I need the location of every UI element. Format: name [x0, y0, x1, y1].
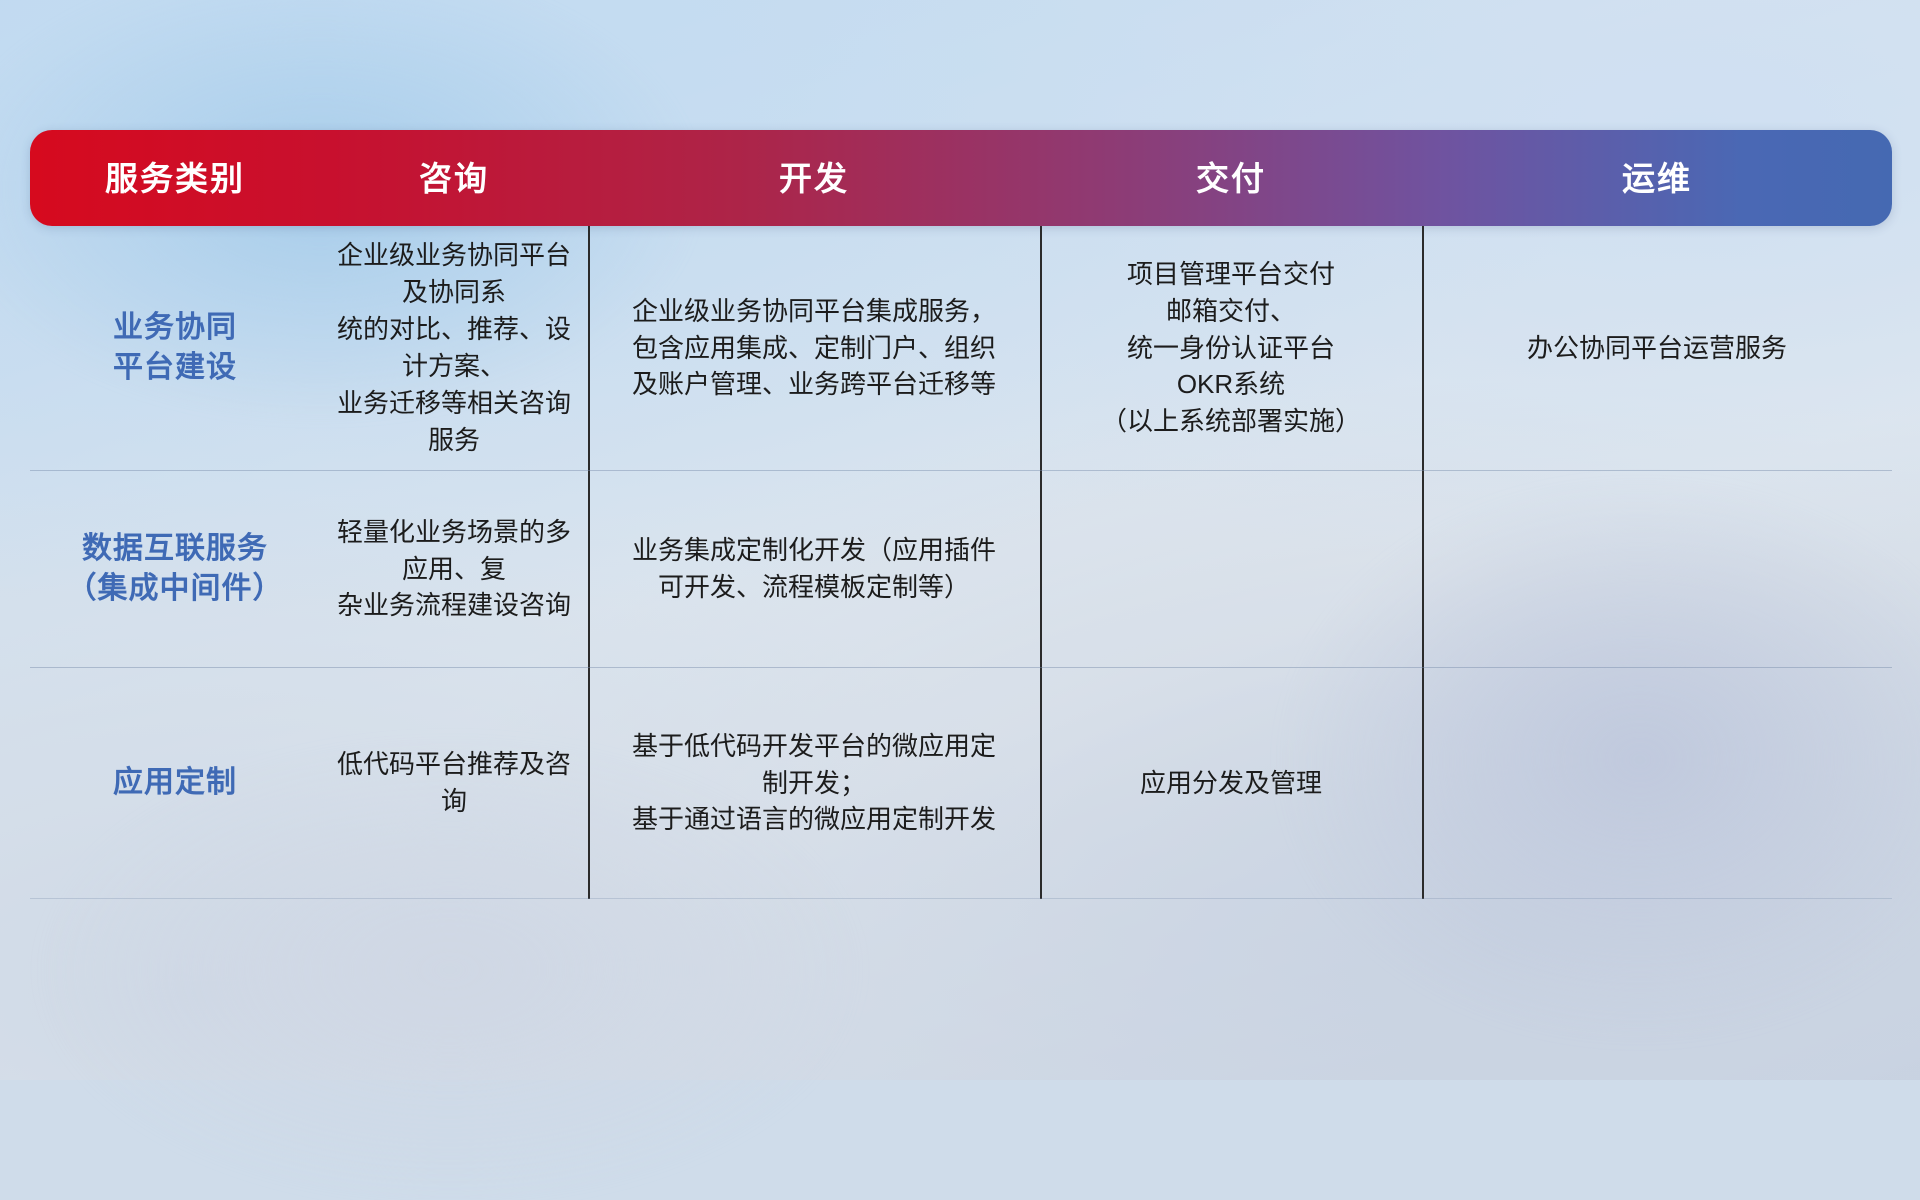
- table-body: 业务协同 平台建设 企业级业务协同平台及协同系 统的对比、推荐、设计方案、 业务…: [30, 226, 1892, 899]
- cell-development: 企业级业务协同平台集成服务， 包含应用集成、定制门户、组织 及账户管理、业务跨平…: [588, 226, 1040, 470]
- table-row: 业务协同 平台建设 企业级业务协同平台及协同系 统的对比、推荐、设计方案、 业务…: [30, 226, 1892, 470]
- slide-canvas: 服务类别 咨询 开发 交付 运维 业务协同 平台建设 企业级业务协同平台及协同系…: [0, 0, 1920, 1080]
- column-header-operations: 运维: [1422, 162, 1892, 195]
- cell-development: 业务集成定制化开发（应用插件 可开发、流程模板定制等）: [588, 471, 1040, 667]
- cell-development: 基于低代码开发平台的微应用定 制开发； 基于通过语言的微应用定制开发: [588, 668, 1040, 898]
- table-row: 应用定制 低代码平台推荐及咨询 基于低代码开发平台的微应用定 制开发； 基于通过…: [30, 667, 1892, 899]
- cell-operations: 办公协同平台运营服务: [1422, 226, 1892, 470]
- row-category-label: 数据互联服务 （集成中间件）: [30, 471, 320, 667]
- cell-delivery: [1040, 471, 1422, 667]
- cell-operations: [1422, 668, 1892, 898]
- row-category-label: 业务协同 平台建设: [30, 226, 320, 470]
- cell-consulting: 轻量化业务场景的多应用、复 杂业务流程建设咨询: [320, 471, 588, 667]
- cell-operations: [1422, 471, 1892, 667]
- column-header-consulting: 咨询: [320, 162, 588, 195]
- table-row: 数据互联服务 （集成中间件） 轻量化业务场景的多应用、复 杂业务流程建设咨询 业…: [30, 470, 1892, 667]
- column-header-delivery: 交付: [1040, 162, 1422, 195]
- cell-consulting: 低代码平台推荐及咨询: [320, 668, 588, 898]
- table-header-row: 服务类别 咨询 开发 交付 运维: [30, 130, 1892, 226]
- row-category-label: 应用定制: [30, 668, 320, 898]
- cell-delivery: 项目管理平台交付 邮箱交付、 统一身份认证平台 OKR系统 （以上系统部署实施）: [1040, 226, 1422, 470]
- cell-delivery: 应用分发及管理: [1040, 668, 1422, 898]
- column-header-development: 开发: [588, 162, 1040, 195]
- cell-consulting: 企业级业务协同平台及协同系 统的对比、推荐、设计方案、 业务迁移等相关咨询服务: [320, 226, 588, 470]
- column-header-category: 服务类别: [30, 162, 320, 195]
- service-matrix-table: 服务类别 咨询 开发 交付 运维 业务协同 平台建设 企业级业务协同平台及协同系…: [30, 130, 1892, 899]
